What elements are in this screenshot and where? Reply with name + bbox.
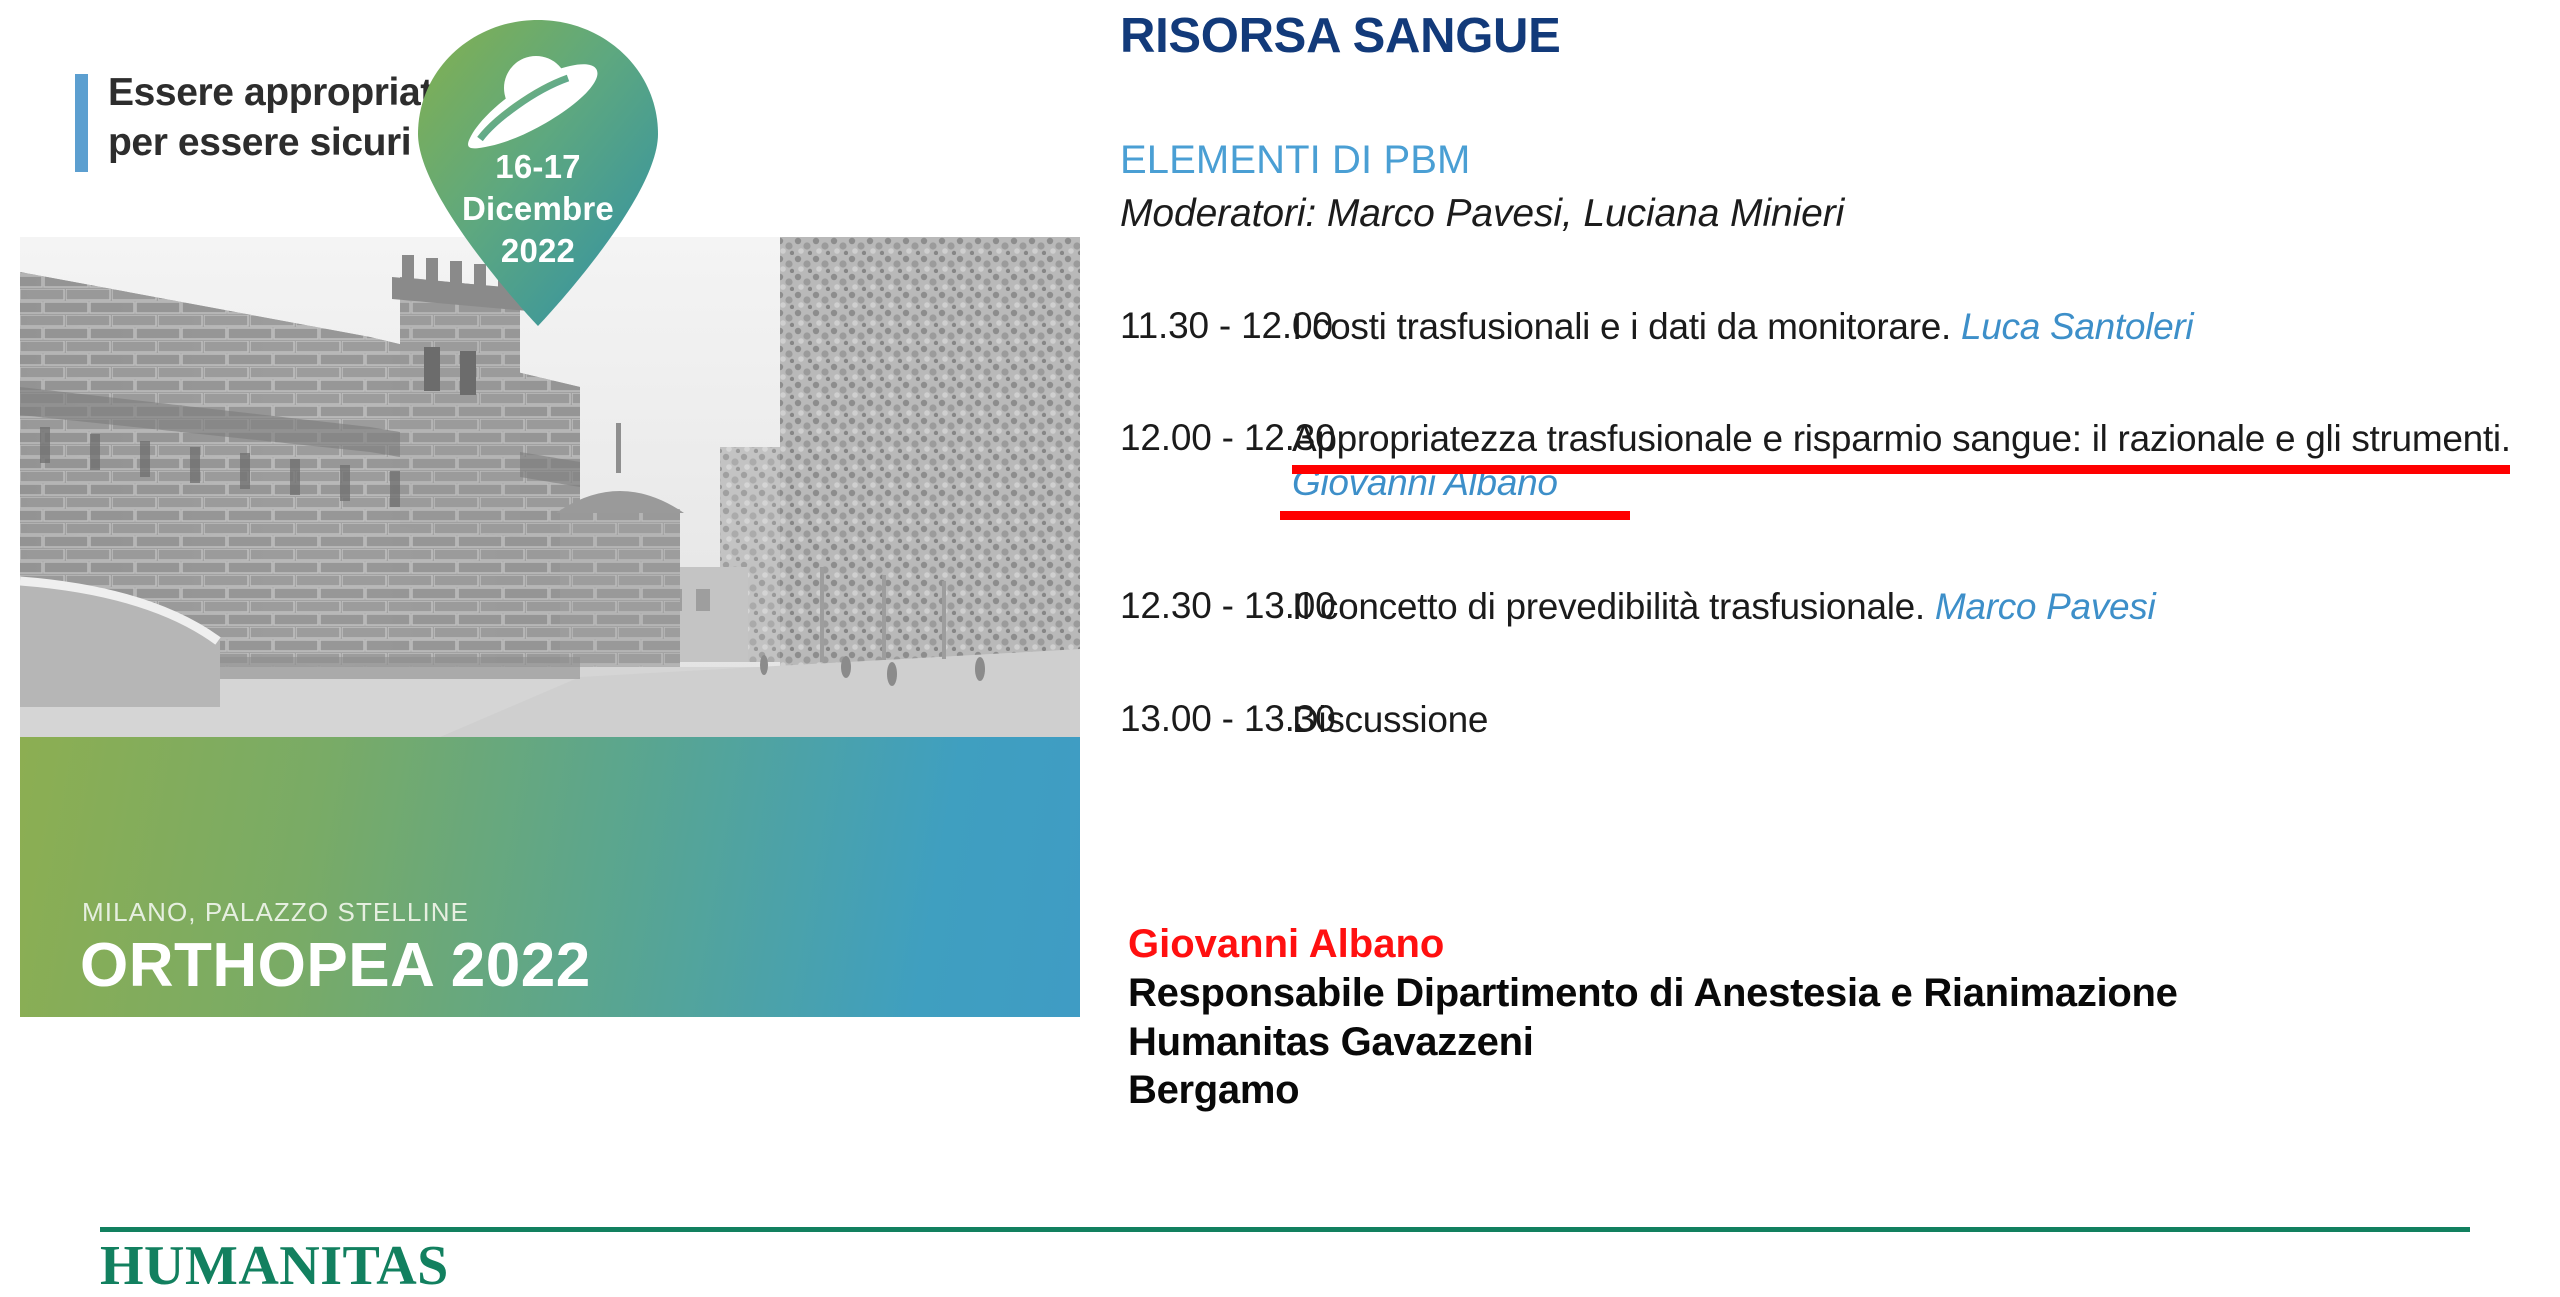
- date-pin-marker: 16-17 Dicembre 2022: [418, 18, 658, 328]
- schedule-list: 11.30 - 12.00 I costi trasfusionali e i …: [1120, 305, 2540, 788]
- poster-claim: Essere appropriati per essere sicuri: [75, 68, 443, 168]
- schedule-desc: I costi trasfusionali e i dati da monito…: [1292, 305, 2540, 349]
- section-title: RISORSA SANGUE: [1120, 8, 1561, 64]
- schedule-speaker: Marco Pavesi: [1935, 586, 2156, 627]
- schedule-topic: I costi trasfusionali e i dati da monito…: [1292, 306, 1961, 347]
- bio-institution: Humanitas Gavazzeni: [1128, 1018, 2528, 1067]
- pin-dates-text: 16-17 Dicembre 2022: [418, 146, 658, 273]
- claim-accent-bar: [75, 74, 88, 172]
- red-highlight-underline-2: [1280, 511, 1630, 520]
- venue-text: MILANO, PALAZZO STELLINE: [82, 897, 469, 928]
- session-title: ELEMENTI DI PBM: [1120, 138, 1470, 183]
- conference-poster: Orthopea. ® Anestesia e Ortopedia www.or…: [20, 0, 1080, 1140]
- humanitas-divider: [100, 1227, 2470, 1232]
- slide-root: Orthopea. ® Anestesia e Ortopedia www.or…: [0, 0, 2560, 1280]
- schedule-time: 11.30 - 12.00: [1120, 305, 1333, 347]
- humanitas-logo-text: HUMANITAS: [100, 1238, 449, 1294]
- schedule-speaker: Luca Santoleri: [1961, 306, 2193, 347]
- schedule-row: 11.30 - 12.00 I costi trasfusionali e i …: [1120, 305, 2540, 417]
- schedule-desc: Discussione: [1292, 698, 2540, 742]
- event-title: ORTHOPEA 2022: [80, 935, 591, 997]
- bio-name: Giovanni Albano: [1128, 920, 2528, 969]
- claim-text: Essere appropriati per essere sicuri: [108, 68, 443, 168]
- bio-city: Bergamo: [1128, 1066, 2528, 1115]
- schedule-time: 12.00 - 12.30: [1120, 417, 1335, 459]
- schedule-topic: Appropriatezza trasfusionale e risparmio…: [1292, 418, 2511, 459]
- schedule-time: 12.30 - 13.00: [1120, 585, 1335, 627]
- bio-role: Responsabile Dipartimento di Anestesia e…: [1128, 969, 2528, 1018]
- schedule-row: 13.00 - 13.30 Discussione: [1120, 698, 2540, 788]
- speaker-bio: Giovanni Albano Responsabile Dipartiment…: [1128, 920, 2528, 1115]
- orthopea-logo: Orthopea. ® Anestesia e Ortopedia www.or…: [105, 0, 985, 2]
- moderators-line: Moderatori: Marco Pavesi, Luciana Minier…: [1120, 192, 1844, 236]
- program-content: RISORSA SANGUE ELEMENTI DI PBM Moderator…: [1120, 0, 2540, 1280]
- schedule-row: 12.30 - 13.00 Il concetto di prevedibili…: [1120, 585, 2540, 698]
- schedule-topic: Il concetto di prevedibilità trasfusiona…: [1292, 586, 1935, 627]
- red-highlight-underline-1: [1292, 465, 2510, 474]
- schedule-desc: Il concetto di prevedibilità trasfusiona…: [1292, 585, 2540, 629]
- schedule-desc: Appropriatezza trasfusionale e risparmio…: [1292, 417, 2534, 504]
- schedule-row-highlighted: 12.00 - 12.30 Appropriatezza trasfusiona…: [1120, 417, 2540, 585]
- poster-footer-band: MILANO, PALAZZO STELLINE ORTHOPEA 2022: [20, 737, 1080, 1017]
- schedule-time: 13.00 - 13.30: [1120, 698, 1335, 740]
